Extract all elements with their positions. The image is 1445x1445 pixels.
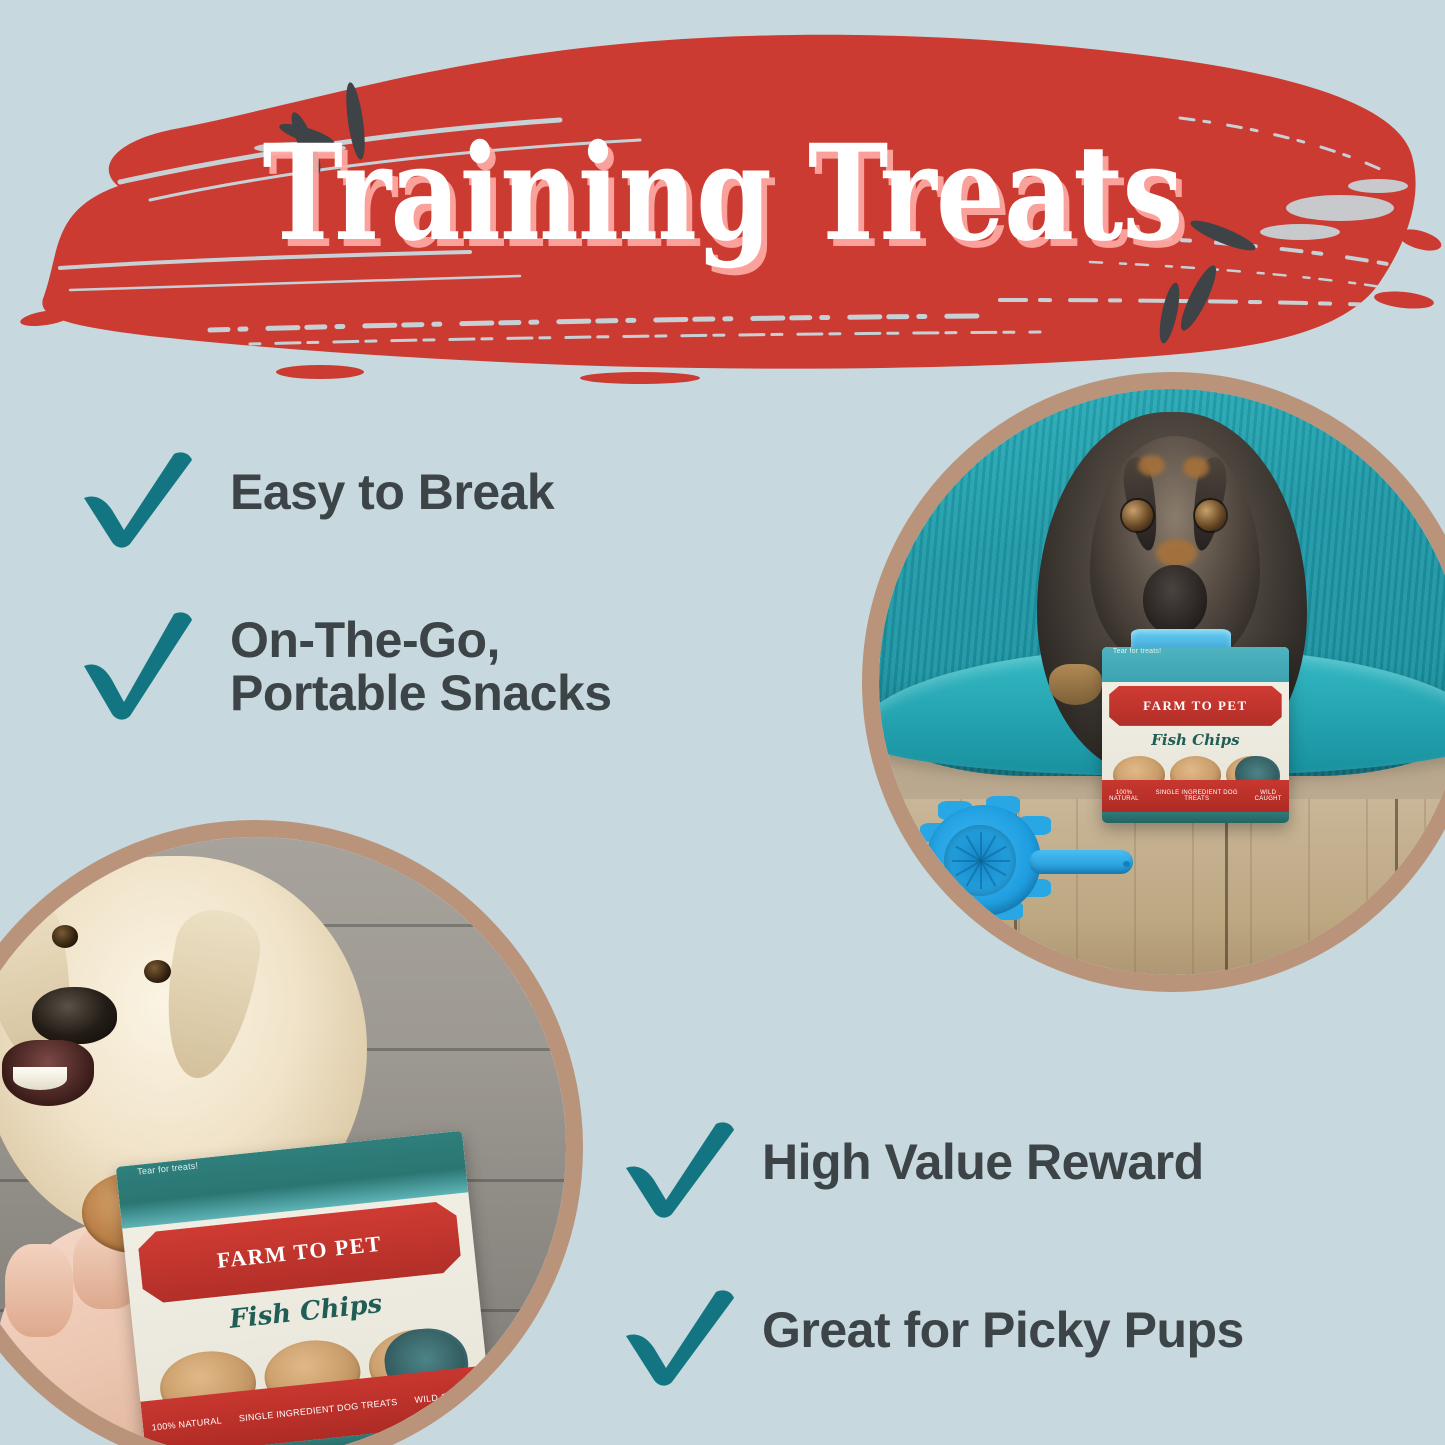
claim-single-ingredient: SINGLE INGREDIENT DOG TREATS [1146, 790, 1247, 803]
golden-retriever-scene: Tear for treats! FARM TO PET Fish Chips … [0, 837, 566, 1445]
benefit-item-picky-pups: Great for Picky Pups [620, 1290, 1244, 1386]
brand-tag: FARM TO PET [1109, 686, 1282, 726]
blue-dog-toy [926, 805, 1125, 916]
golden-retriever-photo: Tear for treats! FARM TO PET Fish Chips … [0, 820, 583, 1445]
dachshund-photo-inner: Tear for treats! FARM TO PET Fish Chips … [879, 389, 1445, 975]
dachshund-paw [1049, 664, 1102, 705]
toy-handle [1029, 850, 1133, 874]
benefit-label: Great for Picky Pups [762, 1304, 1244, 1357]
check-icon [620, 1122, 738, 1218]
claim-natural: 100% NATURAL [152, 1416, 223, 1433]
check-icon [78, 452, 196, 548]
poster-canvas: Training Treats [0, 0, 1445, 1445]
claim-wild-caught: WILD CAUGHT [414, 1389, 481, 1405]
tear-note-label: Tear for treats! [1113, 648, 1161, 655]
claims-band: 100% NATURAL SINGLE INGREDIENT DOG TREAT… [1102, 780, 1290, 812]
golden-retriever-photo-inner: Tear for treats! FARM TO PET Fish Chips … [0, 837, 566, 1445]
product-pouch: Tear for treats! FARM TO PET Fish Chips … [116, 1130, 494, 1445]
benefit-label: High Value Reward [762, 1136, 1204, 1189]
product-name: Fish Chips [1102, 731, 1290, 749]
benefit-label: On-The-Go, Portable Snacks [230, 614, 612, 720]
benefit-item-on-the-go: On-The-Go, Portable Snacks [78, 610, 612, 720]
dachshund-eye-right [1195, 500, 1225, 530]
benefit-label: Easy to Break [230, 466, 554, 519]
claim-wild-caught: WILD CAUGHT [1247, 790, 1289, 803]
brand-name: FARM TO PET [216, 1230, 383, 1273]
golden-eye-right [144, 960, 171, 983]
benefit-item-easy-to-break: Easy to Break [78, 452, 554, 548]
dachshund-photo: Tear for treats! FARM TO PET Fish Chips … [862, 372, 1445, 992]
toy-spokes [944, 825, 1016, 896]
dachshund-eye-left [1122, 500, 1152, 530]
toy-eyelet [1123, 861, 1130, 867]
golden-nose [32, 987, 117, 1045]
check-icon [620, 1290, 738, 1386]
toy-head [926, 805, 1042, 916]
golden-ear-right [153, 903, 266, 1085]
claim-natural: 100% NATURAL [1102, 790, 1147, 803]
golden-eye-left [52, 925, 79, 948]
product-pouch: Tear for treats! FARM TO PET Fish Chips … [1102, 647, 1290, 823]
header-banner: Training Treats [0, 0, 1445, 390]
pouch-top-teal: Tear for treats! [1102, 647, 1290, 682]
check-icon [78, 610, 196, 720]
benefit-item-high-value: High Value Reward [620, 1122, 1204, 1218]
dachshund-scene: Tear for treats! FARM TO PET Fish Chips … [879, 389, 1445, 975]
claim-single-ingredient: SINGLE INGREDIENT DOG TREATS [239, 1398, 399, 1424]
pouch-bottom [1102, 812, 1290, 823]
page-title: Training Treats [130, 128, 1315, 260]
brand-name: FARM TO PET [1143, 698, 1248, 714]
dachshund-nose [1143, 565, 1207, 635]
